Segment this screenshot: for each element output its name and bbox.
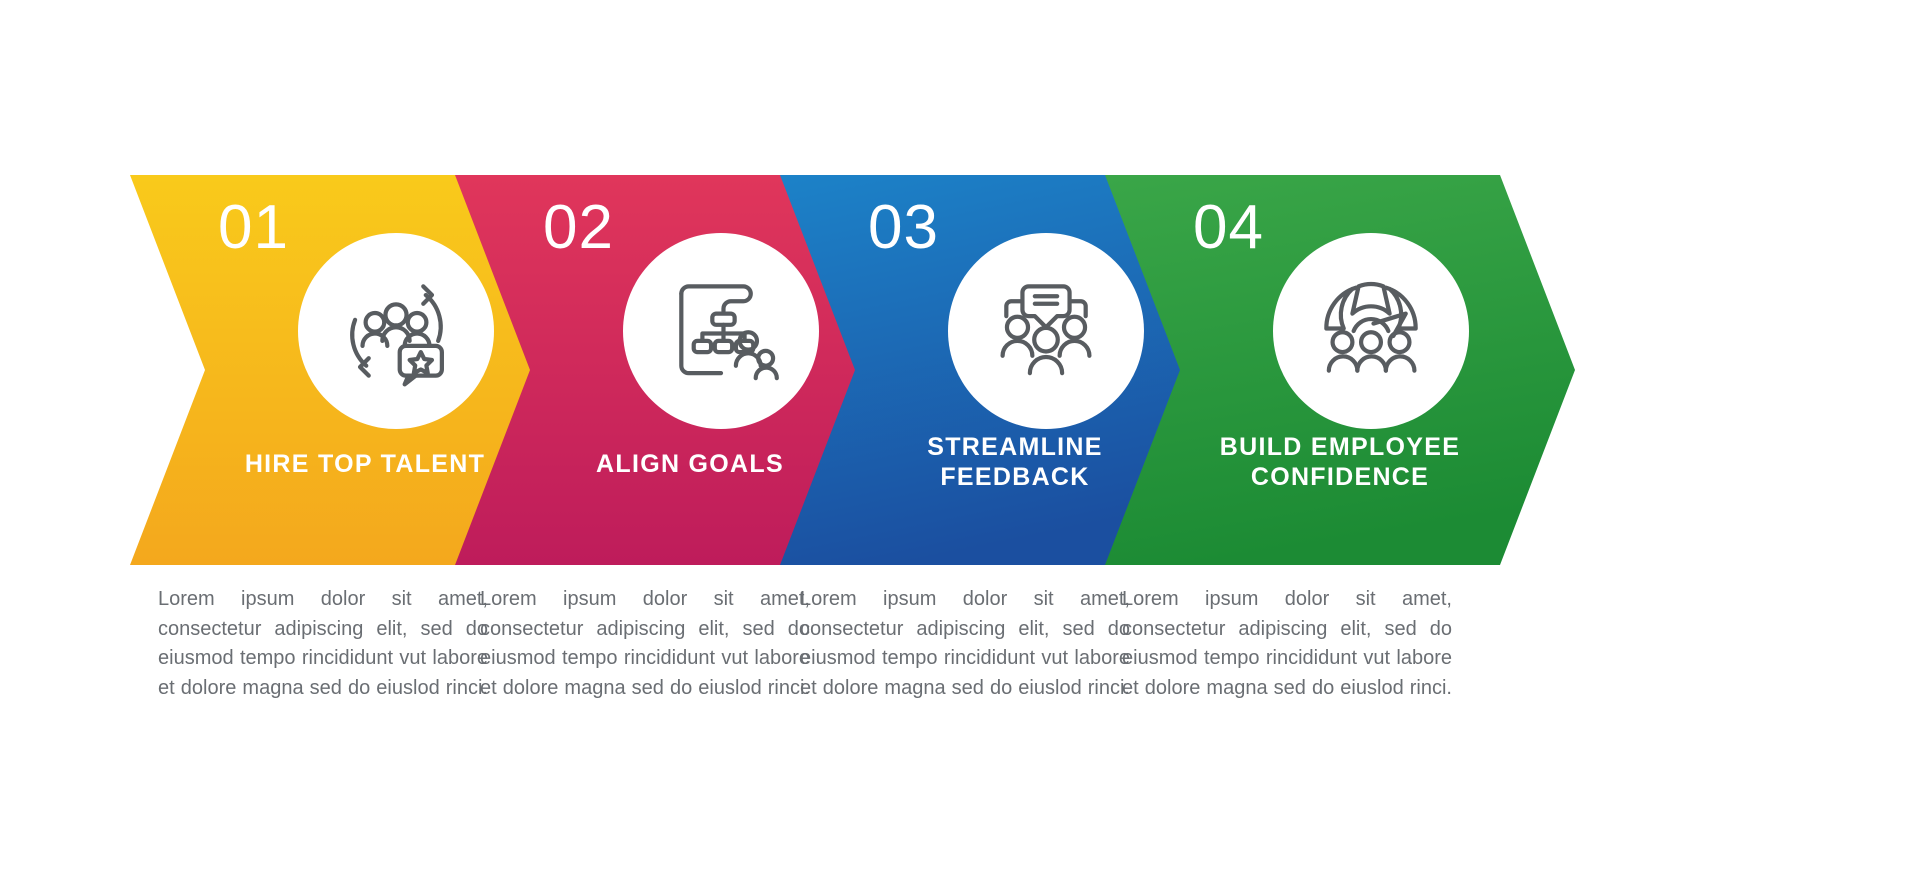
infographic-canvas: 01 HIRE TOP TALENT [0,0,1920,876]
step-title-4-line1: BUILD EMPLOYEE [1105,433,1575,463]
org-chart-document-icon [659,269,783,393]
process-step-4[interactable]: 04 BUILD EMPLOYEE CONFIDENCE [1105,175,1575,565]
step-number-3: 03 [868,197,939,259]
step-number-2: 02 [543,197,614,259]
team-feedback-speech-bubble-icon [984,269,1108,393]
step-number-4: 04 [1193,197,1264,259]
step-title-4: BUILD EMPLOYEE CONFIDENCE [1105,433,1575,492]
step-description-4: Lorem ipsum dolor sit amet, consectetur … [1122,585,1452,703]
icon-badge-4 [1273,233,1469,429]
step-description-2: Lorem ipsum dolor sit amet, consectetur … [480,585,810,703]
step-description-3: Lorem ipsum dolor sit amet, consectetur … [800,585,1130,703]
step-title-4-line2: CONFIDENCE [1105,463,1575,493]
step-number-1: 01 [218,197,289,259]
team-growth-umbrella-icon [1309,269,1433,393]
step-description-1: Lorem ipsum dolor sit amet, consectetur … [158,585,488,703]
team-recruitment-cycle-icon [334,269,458,393]
